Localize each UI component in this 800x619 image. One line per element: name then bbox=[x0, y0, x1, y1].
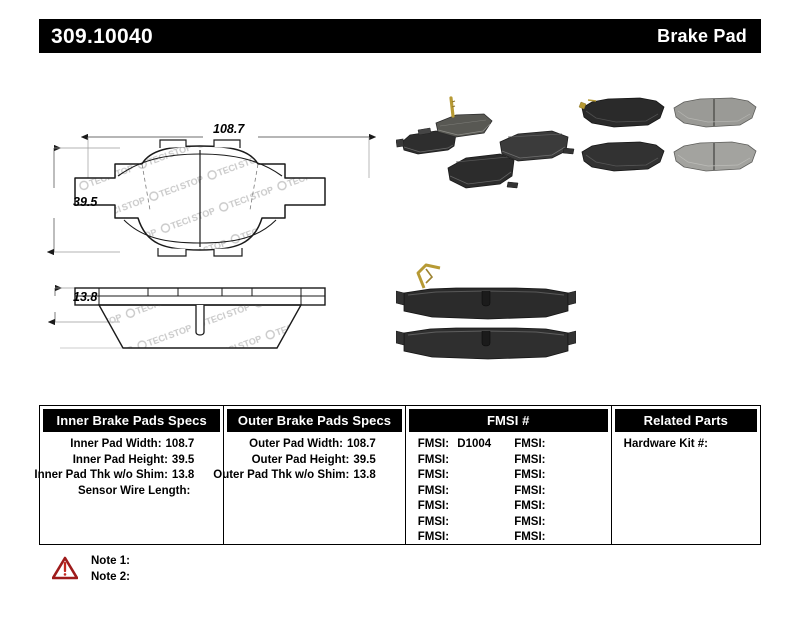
table-row: FMSI: bbox=[514, 499, 610, 515]
fmsi-rows: FMSI: D1004 FMSI: FMSI: FMSI: FMSI: bbox=[406, 432, 611, 546]
illustration-area: 108.7 39.5 13.8 STOP TECH bbox=[0, 60, 800, 390]
table-row: FMSI: bbox=[418, 530, 514, 546]
spec-value: 108.7 bbox=[347, 437, 376, 453]
pad-flat-friction-bottom bbox=[674, 142, 756, 171]
outer-specs-column: Outer Brake Pads Specs Outer Pad Width: … bbox=[224, 406, 405, 544]
spec-label: Sensor Wire Length: bbox=[78, 484, 190, 500]
fmsi-label: FMSI: bbox=[514, 500, 545, 512]
note-label: Note 1: bbox=[91, 555, 130, 567]
sensor-wire-icon bbox=[451, 98, 455, 116]
fmsi-label: FMSI: bbox=[514, 454, 545, 466]
pad-flat-friction-top bbox=[674, 98, 756, 127]
spec-label: Outer Pad Height: bbox=[252, 453, 350, 469]
sensor-bracket-icon bbox=[418, 265, 440, 288]
pad-side-view bbox=[60, 288, 325, 348]
title-bar: 309.10040 Brake Pad bbox=[39, 19, 761, 53]
product-photo-angled-set bbox=[396, 90, 576, 210]
table-row: FMSI: bbox=[514, 515, 610, 531]
fmsi-label: FMSI: bbox=[418, 531, 449, 543]
fmsi-label: FMSI: bbox=[418, 500, 449, 512]
product-photo-edge-views bbox=[396, 255, 576, 365]
table-row: FMSI: bbox=[418, 515, 514, 531]
outer-specs-rows: Outer Pad Width: 108.7 Outer Pad Height:… bbox=[224, 432, 404, 484]
table-row: Inner Pad Width: 108.7 bbox=[40, 437, 223, 453]
spec-label: Inner Pad Width: bbox=[70, 437, 161, 453]
hardware-kit-label: Hardware Kit #: bbox=[624, 438, 708, 450]
spec-value: 39.5 bbox=[172, 453, 194, 469]
table-row: FMSI: bbox=[418, 453, 514, 469]
table-row: Outer Pad Thk w/o Shim: 13.8 bbox=[224, 468, 404, 484]
table-row: FMSI: bbox=[418, 468, 514, 484]
spec-value: 13.8 bbox=[172, 468, 194, 484]
fmsi-label: FMSI: bbox=[514, 531, 545, 543]
fmsi-label: FMSI: bbox=[418, 485, 449, 497]
table-row: FMSI: D1004 bbox=[418, 437, 514, 453]
pad-edge-with-sensor bbox=[396, 265, 576, 319]
pad-photo-right bbox=[500, 131, 574, 161]
table-row: Outer Pad Height: 39.5 bbox=[224, 453, 404, 469]
table-row: FMSI: bbox=[418, 499, 514, 515]
pad-photo-with-sensor bbox=[436, 98, 492, 137]
fmsi-value: D1004 bbox=[457, 438, 491, 450]
dimension-width-label: 108.7 bbox=[213, 122, 244, 136]
table-row: Outer Pad Width: 108.7 bbox=[224, 437, 404, 453]
fmsi-label: FMSI: bbox=[418, 516, 449, 528]
table-row: FMSI: bbox=[418, 484, 514, 500]
table-row: FMSI: bbox=[514, 437, 610, 453]
spec-label: Inner Pad Height: bbox=[73, 453, 168, 469]
note-list: Note 1: Note 2: bbox=[91, 553, 130, 585]
inner-specs-column: Inner Brake Pads Specs Inner Pad Width: … bbox=[40, 406, 224, 544]
table-row: FMSI: bbox=[514, 468, 610, 484]
product-photo-flatlay-grid bbox=[578, 96, 758, 184]
spec-label: Outer Pad Width: bbox=[249, 437, 343, 453]
table-row: Hardware Kit #: bbox=[624, 437, 760, 453]
table-row: Inner Pad Thk w/o Shim: 13.8 bbox=[40, 468, 223, 484]
spec-value: 108.7 bbox=[166, 437, 195, 453]
dimension-height-label: 39.5 bbox=[73, 195, 97, 209]
inner-specs-rows: Inner Pad Width: 108.7 Inner Pad Height:… bbox=[40, 432, 223, 499]
fmsi-label: FMSI: bbox=[514, 485, 545, 497]
table-row: Inner Pad Height: 39.5 bbox=[40, 453, 223, 469]
related-parts-rows: Hardware Kit #: bbox=[612, 432, 760, 453]
warning-triangle-icon bbox=[52, 556, 78, 580]
pad-front-view bbox=[75, 140, 325, 256]
fmsi-label: FMSI: bbox=[418, 454, 449, 466]
list-item: Note 2: bbox=[91, 569, 130, 585]
spec-label: Outer Pad Thk w/o Shim: bbox=[213, 468, 349, 484]
spec-label: Inner Pad Thk w/o Shim: bbox=[34, 468, 168, 484]
fmsi-label: FMSI: bbox=[418, 469, 449, 481]
fmsi-right-subcolumn: FMSI: FMSI: FMSI: FMSI: FMSI: bbox=[514, 437, 610, 546]
pad-flat-dark-bottom bbox=[582, 142, 664, 171]
note-label: Note 2: bbox=[91, 571, 130, 583]
spec-value: 39.5 bbox=[353, 453, 375, 469]
specifications-table: Inner Brake Pads Specs Inner Pad Width: … bbox=[39, 405, 761, 545]
inner-specs-header: Inner Brake Pads Specs bbox=[43, 409, 220, 432]
fmsi-left-subcolumn: FMSI: D1004 FMSI: FMSI: FMSI: FMSI: bbox=[418, 437, 514, 546]
spec-value: 13.8 bbox=[353, 468, 375, 484]
notes-section: Note 1: Note 2: bbox=[52, 553, 130, 585]
fmsi-column: FMSI # FMSI: D1004 FMSI: FMSI: FMSI: bbox=[406, 406, 612, 544]
technical-line-drawing: STOP TECH bbox=[0, 60, 400, 390]
related-parts-column: Related Parts Hardware Kit #: bbox=[612, 406, 760, 544]
product-type-label: Brake Pad bbox=[657, 27, 747, 45]
table-row: Sensor Wire Length: bbox=[40, 484, 223, 500]
fmsi-label: FMSI: bbox=[514, 469, 545, 481]
list-item: Note 1: bbox=[91, 553, 130, 569]
pad-edge-plain bbox=[396, 328, 576, 359]
table-row: FMSI: bbox=[514, 453, 610, 469]
fmsi-label: FMSI: bbox=[418, 438, 449, 450]
pad-flat-dark-top bbox=[579, 98, 664, 127]
part-number: 309.10040 bbox=[51, 26, 153, 47]
outer-specs-header: Outer Brake Pads Specs bbox=[227, 409, 401, 432]
table-row: FMSI: bbox=[514, 484, 610, 500]
pad-photo-front-center bbox=[448, 154, 518, 188]
table-row: FMSI: bbox=[514, 530, 610, 546]
related-parts-header: Related Parts bbox=[615, 409, 757, 432]
fmsi-label: FMSI: bbox=[514, 438, 545, 450]
fmsi-header: FMSI # bbox=[409, 409, 608, 432]
fmsi-label: FMSI: bbox=[514, 516, 545, 528]
dimension-thickness-label: 13.8 bbox=[73, 290, 97, 304]
